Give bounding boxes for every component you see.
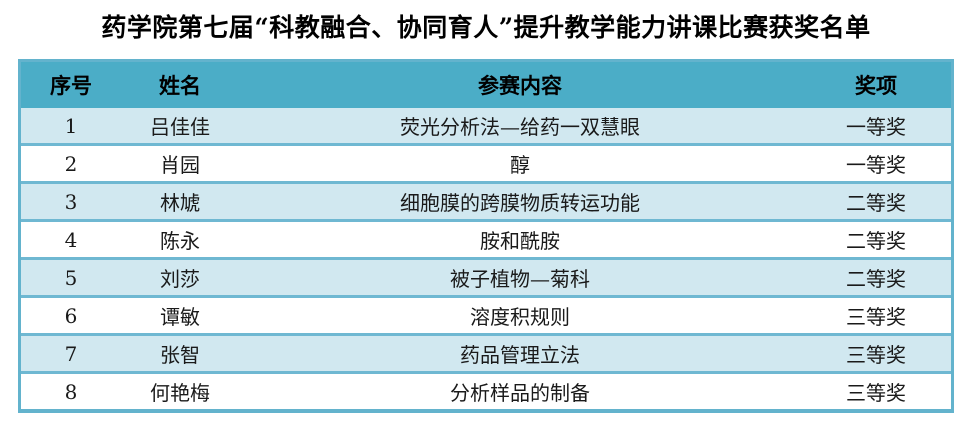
cell-award: 三等奖 (801, 373, 951, 410)
cell-award: 二等奖 (801, 221, 951, 259)
cell-topic: 荧光分析法—给药一双慧眼 (239, 108, 801, 145)
cell-award: 二等奖 (801, 259, 951, 297)
table-row: 8 何艳梅 分析样品的制备 三等奖 (21, 373, 951, 410)
table-row: 7 张智 药品管理立法 三等奖 (21, 335, 951, 373)
cell-name: 谭敏 (121, 297, 239, 335)
cell-no: 4 (21, 221, 121, 259)
cell-award: 三等奖 (801, 297, 951, 335)
cell-topic: 溶度积规则 (239, 297, 801, 335)
cell-no: 2 (21, 145, 121, 183)
award-table-container: 序号 姓名 参赛内容 奖项 1 吕佳佳 荧光分析法—给药一双慧眼 一等奖 2 肖… (18, 59, 954, 413)
table-body: 1 吕佳佳 荧光分析法—给药一双慧眼 一等奖 2 肖园 醇 一等奖 3 林虓 细… (21, 108, 951, 409)
cell-name: 陈永 (121, 221, 239, 259)
cell-name: 刘莎 (121, 259, 239, 297)
table-row: 4 陈永 胺和酰胺 二等奖 (21, 221, 951, 259)
cell-topic: 被子植物—菊科 (239, 259, 801, 297)
cell-name: 肖园 (121, 145, 239, 183)
cell-name: 林虓 (121, 183, 239, 221)
cell-award: 二等奖 (801, 183, 951, 221)
page-title: 药学院第七届“科教融合、协同育人”提升教学能力讲课比赛获奖名单 (0, 12, 972, 44)
cell-topic: 分析样品的制备 (239, 373, 801, 410)
cell-award: 三等奖 (801, 335, 951, 373)
cell-no: 3 (21, 183, 121, 221)
column-header-name: 姓名 (121, 62, 239, 108)
cell-no: 5 (21, 259, 121, 297)
cell-topic: 胺和酰胺 (239, 221, 801, 259)
cell-name: 吕佳佳 (121, 108, 239, 145)
column-header-topic: 参赛内容 (239, 62, 801, 108)
cell-no: 7 (21, 335, 121, 373)
cell-name: 张智 (121, 335, 239, 373)
cell-topic: 醇 (239, 145, 801, 183)
table-header-row: 序号 姓名 参赛内容 奖项 (21, 62, 951, 108)
cell-award: 一等奖 (801, 145, 951, 183)
cell-no: 1 (21, 108, 121, 145)
column-header-award: 奖项 (801, 62, 951, 108)
award-table: 序号 姓名 参赛内容 奖项 1 吕佳佳 荧光分析法—给药一双慧眼 一等奖 2 肖… (21, 62, 951, 409)
cell-no: 8 (21, 373, 121, 410)
table-row: 6 谭敏 溶度积规则 三等奖 (21, 297, 951, 335)
table-row: 2 肖园 醇 一等奖 (21, 145, 951, 183)
table-row: 5 刘莎 被子植物—菊科 二等奖 (21, 259, 951, 297)
cell-name: 何艳梅 (121, 373, 239, 410)
table-row: 3 林虓 细胞膜的跨膜物质转运功能 二等奖 (21, 183, 951, 221)
cell-topic: 细胞膜的跨膜物质转运功能 (239, 183, 801, 221)
document-page: 药学院第七届“科教融合、协同育人”提升教学能力讲课比赛获奖名单 序号 姓名 参赛… (0, 0, 972, 432)
column-header-no: 序号 (21, 62, 121, 108)
cell-topic: 药品管理立法 (239, 335, 801, 373)
cell-award: 一等奖 (801, 108, 951, 145)
cell-no: 6 (21, 297, 121, 335)
table-row: 1 吕佳佳 荧光分析法—给药一双慧眼 一等奖 (21, 108, 951, 145)
table-header: 序号 姓名 参赛内容 奖项 (21, 62, 951, 108)
